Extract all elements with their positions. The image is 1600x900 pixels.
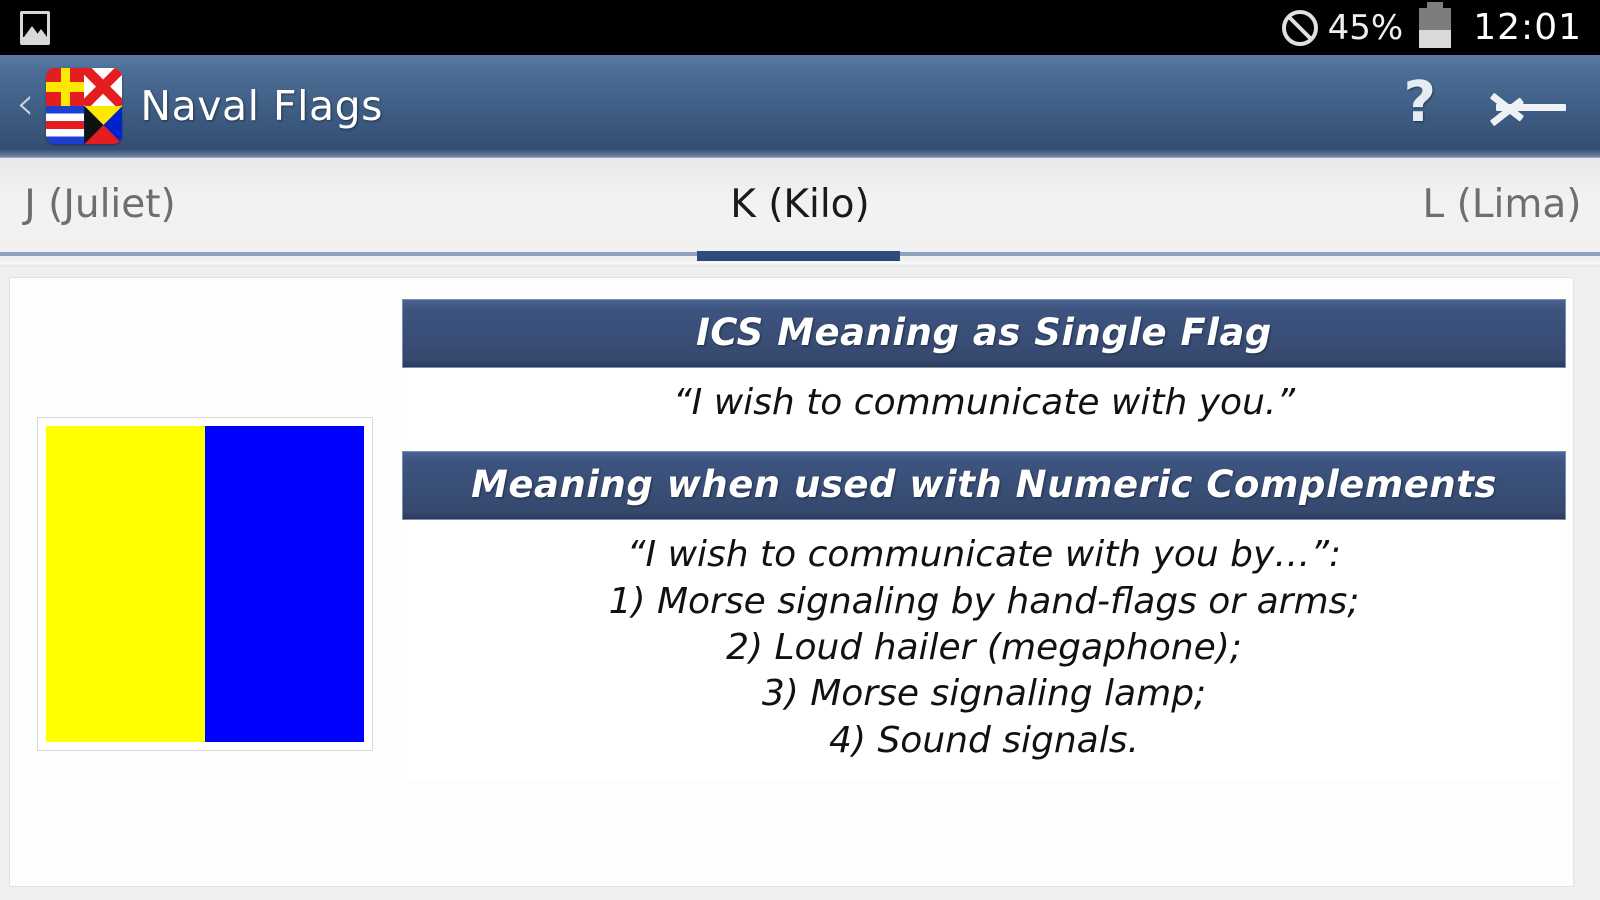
naval-flags-app-icon[interactable]	[46, 68, 122, 144]
kilo-flag-blue-half	[205, 426, 364, 742]
tab-next-letter[interactable]: L (Lima)	[1342, 158, 1600, 265]
do-not-disturb-icon	[1282, 10, 1318, 46]
battery-icon	[1419, 8, 1451, 48]
kilo-flag-yellow-half	[46, 426, 205, 742]
up-navigation-chevron-icon[interactable]: ‹	[10, 80, 46, 132]
status-bar-right: 45% 12:01	[1282, 7, 1582, 48]
meaning-line-2: 2) Loud hailer (megaphone);	[402, 625, 1566, 671]
back-arrow-icon[interactable]	[1480, 78, 1568, 134]
flag-detail-panel: ICS Meaning as Single Flag “I wish to co…	[9, 277, 1574, 887]
app-title-bar: ‹ Naval Flags ?	[0, 55, 1600, 158]
meaning-line: “I wish to communicate with you.”	[402, 380, 1566, 426]
meaning-line-3: 3) Morse signaling lamp;	[402, 671, 1566, 717]
kilo-flag-image	[46, 426, 364, 742]
meaning-line-4: 4) Sound signals.	[402, 718, 1566, 764]
clock-label: 12:01	[1473, 7, 1582, 48]
section-body-numeric-complements: “I wish to communicate with you by…”: 1)…	[402, 520, 1566, 780]
content-area: ICS Meaning as Single Flag “I wish to co…	[0, 267, 1600, 900]
tab-active-indicator	[697, 247, 900, 261]
battery-percent-label: 45%	[1328, 8, 1404, 48]
status-bar-left	[20, 11, 50, 45]
status-bar: 45% 12:01	[0, 0, 1600, 55]
tab-previous-letter[interactable]: J (Juliet)	[0, 158, 260, 265]
battery-fill	[1419, 30, 1451, 48]
meaning-column: ICS Meaning as Single Flag “I wish to co…	[402, 299, 1566, 780]
section-header-numeric-complements: Meaning when used with Numeric Complemen…	[402, 451, 1566, 520]
image-icon-base	[23, 37, 47, 42]
image-icon-mountain-small	[35, 29, 47, 37]
image-icon	[20, 11, 50, 45]
flag-image-frame[interactable]	[37, 417, 373, 751]
help-icon[interactable]: ?	[1404, 75, 1480, 137]
meaning-line-1: 1) Morse signaling by hand-flags or arms…	[402, 579, 1566, 625]
page-title: Naval Flags	[140, 82, 383, 130]
meaning-line-intro: “I wish to communicate with you by…”:	[402, 532, 1566, 578]
section-gap	[402, 442, 1566, 451]
section-header-single-flag: ICS Meaning as Single Flag	[402, 299, 1566, 368]
section-body-single-flag: “I wish to communicate with you.”	[402, 368, 1566, 442]
app-icon-flag-romeo	[46, 68, 84, 106]
app-icon-flag-zulu	[84, 106, 122, 144]
app-icon-flag-charlie	[46, 106, 84, 144]
app-icon-flag-victor	[84, 68, 122, 106]
